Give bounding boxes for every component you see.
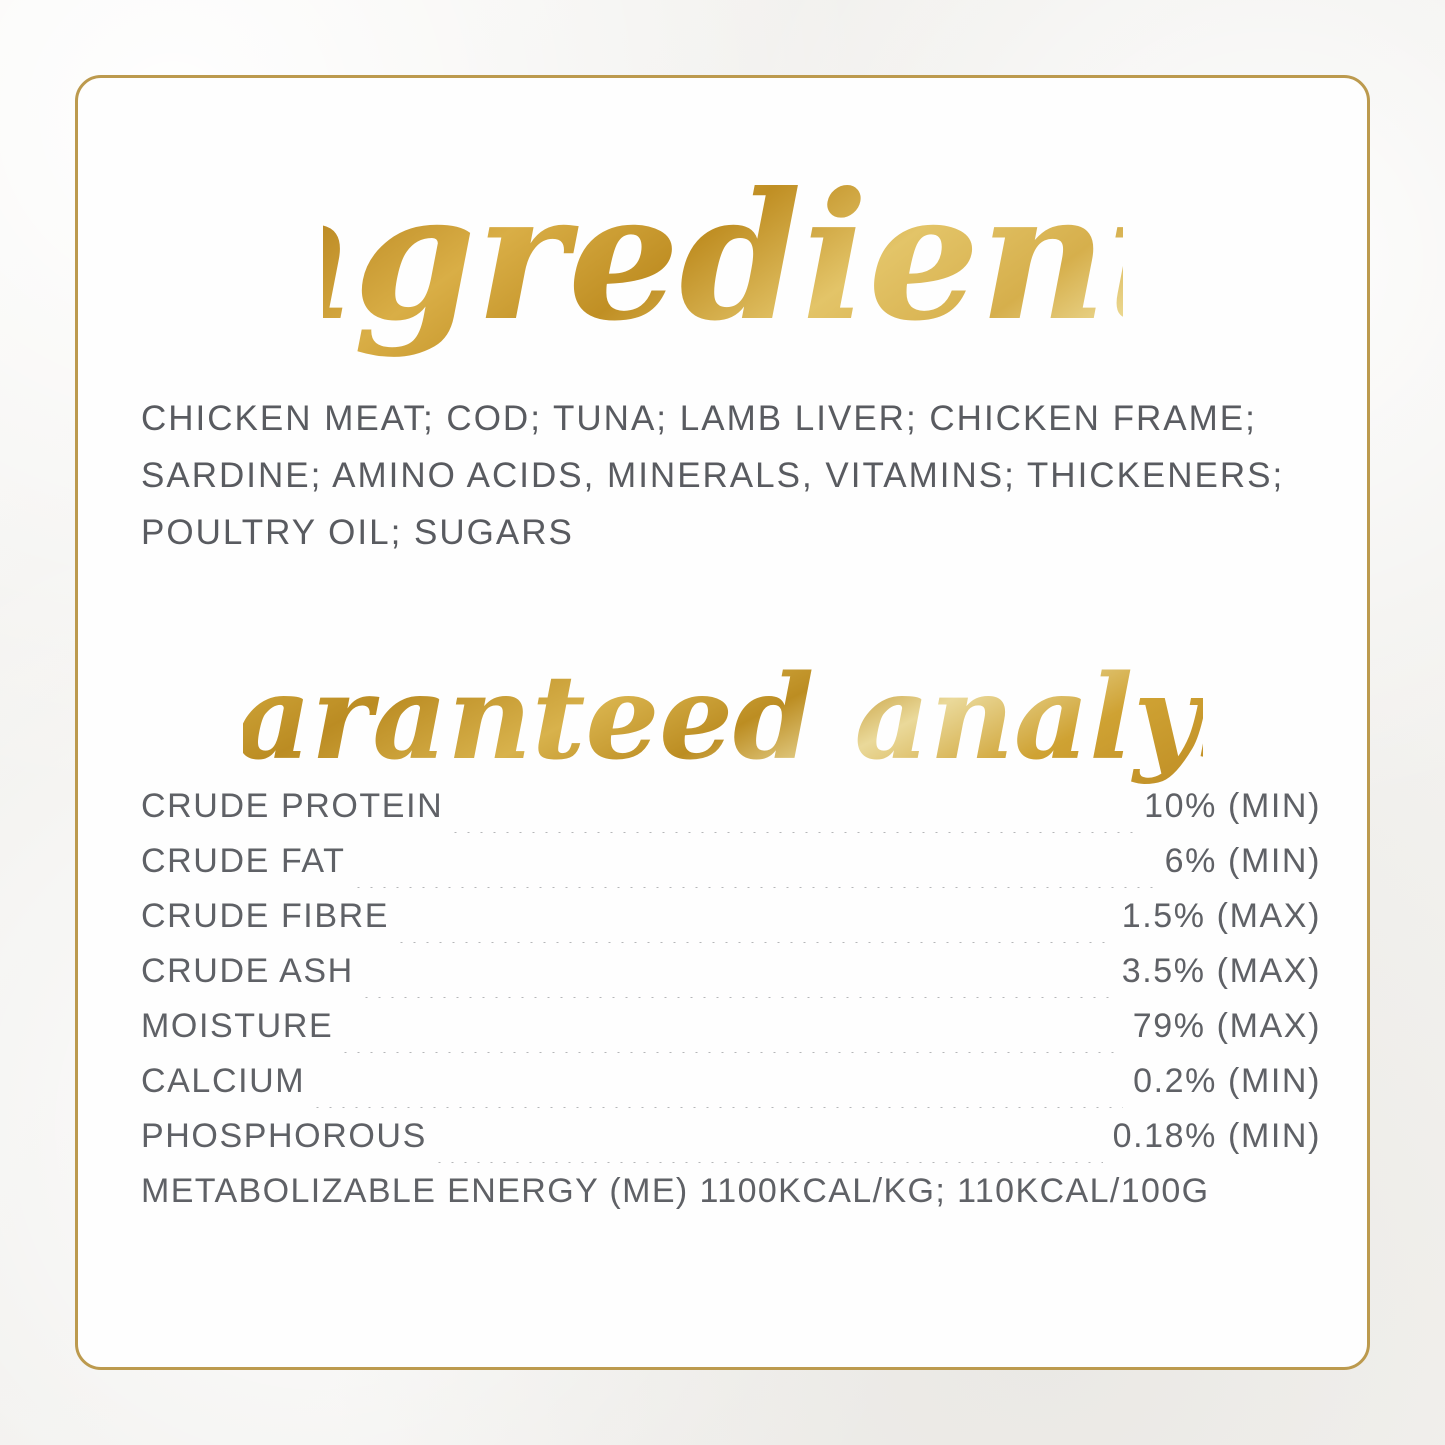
- analysis-row-value: 79% (MAX): [1133, 1007, 1321, 1046]
- analysis-row-label: CRUDE ASH: [141, 952, 354, 991]
- analysis-row-label: CRUDE PROTEIN: [141, 787, 443, 826]
- ingredients-heading: ingredients: [78, 158, 1367, 388]
- guaranteed-analysis-heading-text: guaranteed analysis: [243, 650, 1203, 786]
- dotted-leader: [453, 832, 1134, 833]
- dotted-leader: [437, 1162, 1103, 1163]
- ingredients-line: POULTRY OIL; SUGARS: [141, 504, 1321, 561]
- dotted-leader: [343, 1052, 1123, 1053]
- ingredients-list: CHICKEN MEAT; COD; TUNA; LAMB LIVER; CHI…: [141, 390, 1321, 561]
- analysis-row-value: 10% (MIN): [1144, 787, 1321, 826]
- metabolizable-energy-row: METABOLIZABLE ENERGY (ME) 1100KCAL/KG; 1…: [141, 1172, 1321, 1227]
- analysis-row-value: 0.18% (MIN): [1113, 1117, 1321, 1156]
- analysis-row-label: CRUDE FIBRE: [141, 897, 389, 936]
- ingredients-heading-text: ingredients: [323, 158, 1123, 360]
- analysis-row-value: 3.5% (MAX): [1122, 952, 1321, 991]
- analysis-row: PHOSPHOROUS 0.18% (MIN): [141, 1117, 1321, 1172]
- ingredients-line: SARDINE; AMINO ACIDS, MINERALS, VITAMINS…: [141, 447, 1321, 504]
- analysis-row-value: 0.2% (MIN): [1133, 1062, 1321, 1101]
- dotted-leader: [399, 942, 1112, 943]
- dotted-leader: [356, 887, 1155, 888]
- analysis-row-label: CALCIUM: [141, 1062, 305, 1101]
- label-card: ingredients CHICKEN MEAT; COD; TUNA; LAM…: [75, 75, 1370, 1370]
- analysis-row: CALCIUM 0.2% (MIN): [141, 1062, 1321, 1117]
- analysis-row: CRUDE ASH 3.5% (MAX): [141, 952, 1321, 1007]
- analysis-row-label: PHOSPHOROUS: [141, 1117, 427, 1156]
- analysis-row: MOISTURE 79% (MAX): [141, 1007, 1321, 1062]
- analysis-row: CRUDE FAT 6% (MIN): [141, 842, 1321, 897]
- analysis-row: CRUDE FIBRE 1.5% (MAX): [141, 897, 1321, 952]
- analysis-row-value: 1.5% (MAX): [1122, 897, 1321, 936]
- analysis-row: CRUDE PROTEIN 10% (MIN): [141, 787, 1321, 842]
- analysis-row-label: MOISTURE: [141, 1007, 333, 1046]
- analysis-row-value: 6% (MIN): [1165, 842, 1321, 881]
- guaranteed-analysis-table: CRUDE PROTEIN 10% (MIN) CRUDE FAT 6% (MI…: [141, 787, 1321, 1227]
- dotted-leader: [315, 1107, 1123, 1108]
- dotted-leader: [364, 997, 1112, 998]
- analysis-row-label: CRUDE FAT: [141, 842, 346, 881]
- ingredients-line: CHICKEN MEAT; COD; TUNA; LAMB LIVER; CHI…: [141, 390, 1321, 447]
